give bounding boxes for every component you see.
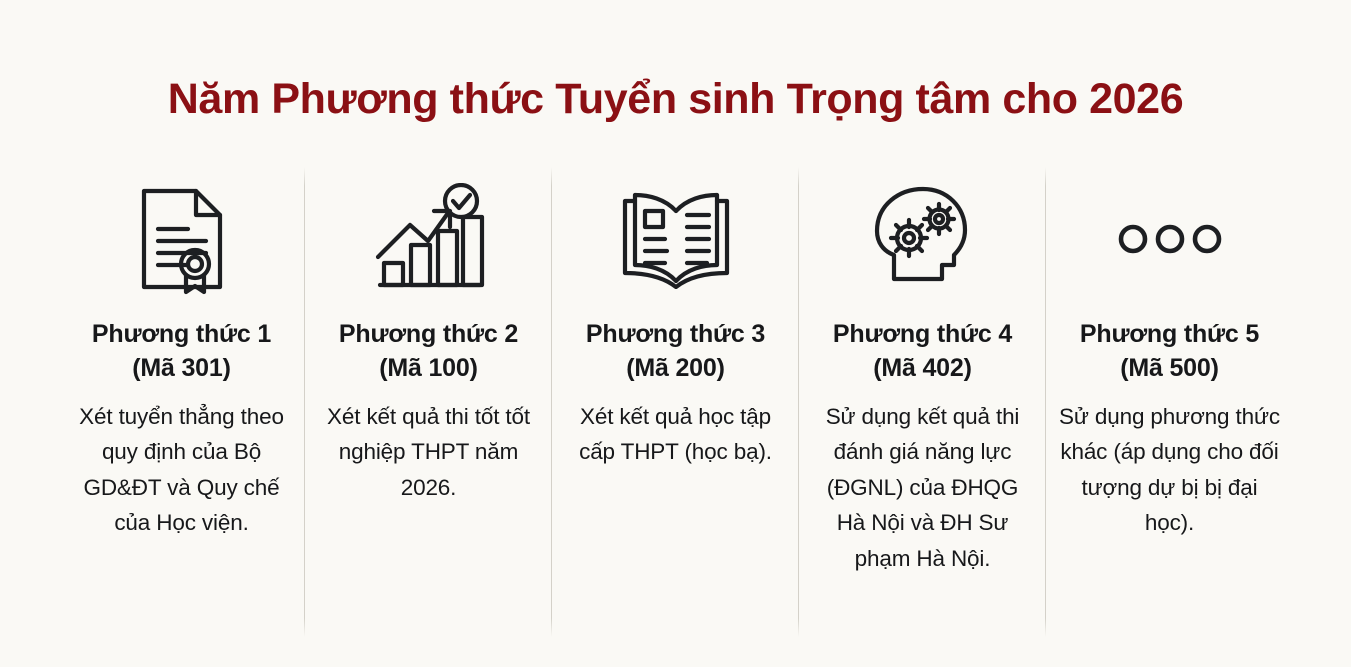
page-title: Năm Phương thức Tuyển sinh Trọng tâm cho… <box>168 75 1183 123</box>
method-heading-2: Phương thức 2 (Mã 100) <box>339 317 518 386</box>
three-dots-ellipsis-icon <box>1116 179 1224 299</box>
method-description-3: Xét kết quả học tập cấp THPT (học bạ). <box>564 399 787 470</box>
method-title-4: Phương thức 4 <box>833 320 1012 348</box>
title-container: Năm Phương thức Tuyển sinh Trọng tâm cho… <box>0 0 1351 152</box>
method-title-2: Phương thức 2 <box>339 320 518 348</box>
open-book-icon <box>617 179 735 299</box>
head-gears-icon <box>865 179 981 299</box>
method-title-3: Phương thức 3 <box>586 320 765 348</box>
method-column-4: Phương thức 4 (Mã 402) Sử dụng kết quả t… <box>799 179 1046 577</box>
method-title-1: Phương thức 1 <box>92 320 271 348</box>
bar-chart-growth-check-icon <box>372 179 486 299</box>
method-column-5: Phương thức 5 (Mã 500) Sử dụng phương th… <box>1046 179 1293 541</box>
method-heading-3: Phương thức 3 (Mã 200) <box>586 317 765 386</box>
method-heading-4: Phương thức 4 (Mã 402) <box>833 317 1012 386</box>
certificate-document-icon <box>130 179 234 299</box>
method-description-5: Sử dụng phương thức khác (áp dụng cho đố… <box>1058 399 1281 541</box>
method-description-1: Xét tuyển thẳng theo quy định của Bộ GD&… <box>70 399 293 541</box>
method-code-1: (Mã 301) <box>92 351 271 386</box>
method-description-4: Sử dụng kết quả thi đánh giá năng lực (Đ… <box>811 399 1034 577</box>
method-code-5: (Mã 500) <box>1080 351 1259 386</box>
method-title-5: Phương thức 5 <box>1080 320 1259 348</box>
method-heading-5: Phương thức 5 (Mã 500) <box>1080 317 1259 386</box>
infographic-page: Năm Phương thức Tuyển sinh Trọng tâm cho… <box>0 0 1351 667</box>
method-description-2: Xét kết quả thi tốt tốt nghiệp THPT năm … <box>317 399 540 506</box>
methods-columns: Phương thức 1 (Mã 301) Xét tuyển thẳng t… <box>0 179 1351 667</box>
method-column-3: Phương thức 3 (Mã 200) Xét kết quả học t… <box>552 179 799 470</box>
method-code-4: (Mã 402) <box>833 351 1012 386</box>
method-column-2: Phương thức 2 (Mã 100) Xét kết quả thi t… <box>305 179 552 506</box>
method-code-2: (Mã 100) <box>339 351 518 386</box>
method-heading-1: Phương thức 1 (Mã 301) <box>92 317 271 386</box>
method-code-3: (Mã 200) <box>586 351 765 386</box>
method-column-1: Phương thức 1 (Mã 301) Xét tuyển thẳng t… <box>58 179 305 541</box>
